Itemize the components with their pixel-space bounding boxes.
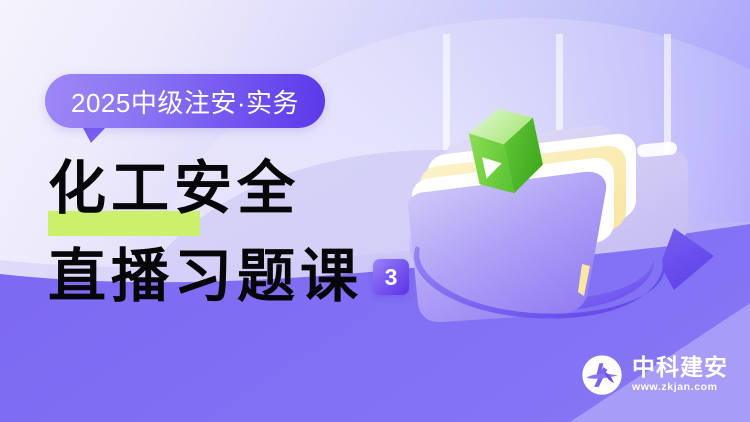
zkjan-logo-icon [581, 354, 623, 396]
logo-website-url: www.zkjan.com [632, 381, 728, 395]
title-line-2: 直播习题课 [48, 248, 363, 306]
logo-text-block: 中科建安 www.zkjan.com [632, 355, 728, 395]
folder-illustration [398, 96, 738, 346]
title-line-1: 化工安全 [48, 160, 409, 218]
badge-pill-tail [82, 126, 107, 143]
episode-number-badge: 3 [373, 259, 409, 295]
course-badge-pill: 2025中级注安·实务 [45, 74, 325, 128]
title-block: 化工安全 直播习题课 3 [48, 160, 409, 306]
logo-brand-name: 中科建安 [632, 355, 728, 379]
folder-front-panel [408, 172, 606, 322]
course-badge-label: 2025中级注安·实务 [71, 83, 299, 120]
course-banner: 2025中级注安·实务 化工安全 直播习题课 3 中科建安 www.zkjan.… [0, 0, 750, 422]
title-line-2-row: 直播习题课 3 [48, 248, 409, 306]
brand-logo: 中科建安 www.zkjan.com [581, 354, 728, 396]
